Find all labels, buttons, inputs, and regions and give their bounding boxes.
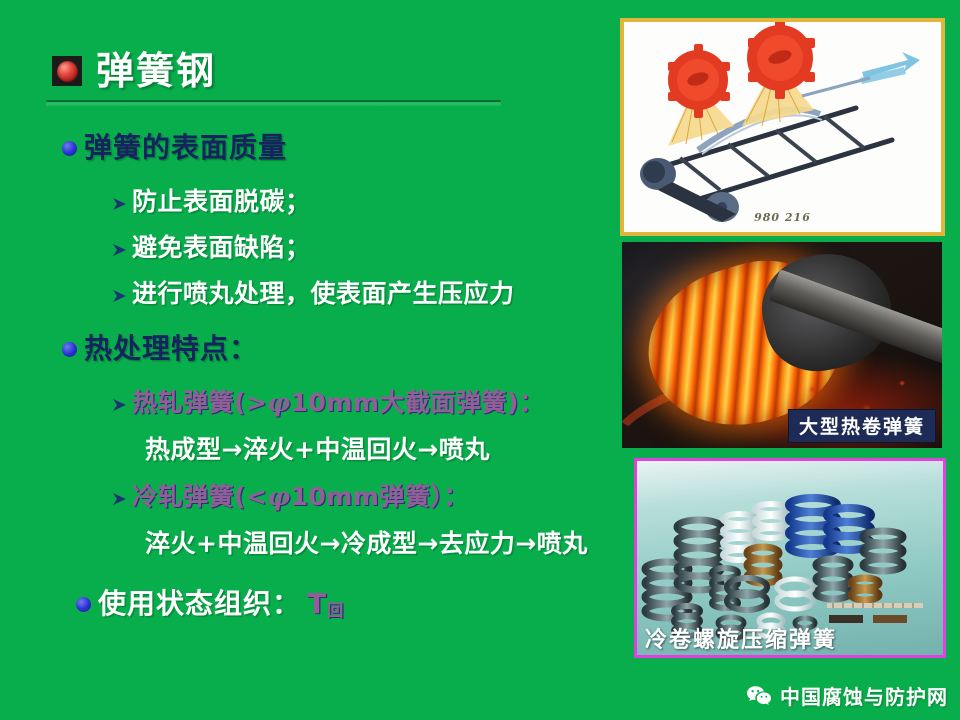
watermark-text: 中国腐蚀与防护网 bbox=[780, 681, 948, 710]
cold-rolled-label-b: (< bbox=[234, 482, 267, 511]
arrow-bullet-icon bbox=[112, 492, 128, 506]
hot-rolled-label: 热轧弹簧(>φ10mm大截面弹簧)： bbox=[132, 388, 544, 418]
diagram-caption: 980 216 bbox=[624, 211, 941, 224]
title-divider bbox=[46, 100, 501, 106]
section1-heading-text: 弹簧的表面质量 bbox=[84, 130, 287, 165]
section3-heading-text: 使用状态组织：T回 bbox=[98, 586, 344, 621]
phi-symbol: φ bbox=[267, 388, 290, 417]
shot-peening-drawing: 980 216 bbox=[624, 22, 941, 232]
list-item-cold-rolled: 冷轧弹簧(<φ10mm弹簧）： bbox=[112, 482, 620, 512]
hot-coiled-spring-photo: 大型热卷弹簧 bbox=[622, 242, 942, 448]
section2-heading: 热处理特点： bbox=[62, 331, 620, 366]
arrow-bullet-icon bbox=[112, 289, 128, 303]
bullet-dot-icon bbox=[76, 597, 91, 612]
list-item-text: 防止表面脱碳； bbox=[132, 187, 311, 217]
list-item-hot-rolled: 热轧弹簧(>φ10mm大截面弹簧)： bbox=[112, 388, 620, 418]
page-title: 弹簧钢 bbox=[96, 52, 216, 90]
hot-rolled-label-a: 热轧弹簧 bbox=[132, 388, 234, 417]
section1-heading: 弹簧的表面质量 bbox=[62, 130, 620, 165]
section2-heading-text: 热处理特点： bbox=[84, 331, 258, 366]
hot-rolled-label-b: (> bbox=[234, 388, 267, 417]
peening-svg bbox=[624, 22, 941, 232]
section3-heading: 使用状态组织：T回 bbox=[76, 586, 620, 621]
red-gem-icon bbox=[52, 56, 82, 86]
photo2-caption: 大型热卷弹簧 bbox=[788, 409, 936, 443]
cold-rolled-label: 冷轧弹簧(<φ10mm弹簧）： bbox=[132, 482, 469, 512]
list-item: 进行喷丸处理，使表面产生压应力 bbox=[112, 279, 620, 309]
cold-coiled-springs-photo: 冷卷螺旋压缩弹簧 bbox=[634, 458, 946, 658]
hot-rolled-label-d: ： bbox=[519, 388, 545, 417]
bullet-dot-icon bbox=[62, 141, 77, 156]
phi-symbol: φ bbox=[267, 482, 290, 511]
bullet-dot-icon bbox=[62, 342, 77, 357]
cold-rolled-flow-text: 淬火+中温回火→冷成型→去应力→喷丸 bbox=[145, 524, 620, 560]
arrow-bullet-icon bbox=[112, 243, 128, 257]
list-item: 防止表面脱碳； bbox=[112, 187, 620, 217]
hot-rolled-label-c: 10mm大截面弹簧) bbox=[291, 388, 519, 417]
cold-rolled-label-a: 冷轧弹簧 bbox=[132, 482, 234, 511]
watermark: 中国腐蚀与防护网 bbox=[746, 681, 948, 710]
slide-canvas: 弹簧钢 弹簧的表面质量 防止表面脱碳； 避免表面缺陷； 进行喷丸处理，使表面产生… bbox=[0, 0, 960, 720]
list-item: 避免表面缺陷； bbox=[112, 233, 620, 263]
arrow-bullet-icon bbox=[112, 197, 128, 211]
symbol-T: T回 bbox=[307, 587, 344, 620]
cold-rolled-label-d: ： bbox=[443, 482, 469, 511]
hot-rolled-flow-text: 热成型→淬火+中温回火→喷丸 bbox=[145, 430, 620, 466]
cold-rolled-label-c: 10mm弹簧） bbox=[291, 482, 444, 511]
section3-label: 使用状态组织： bbox=[98, 587, 301, 620]
slide-body: 弹簧的表面质量 防止表面脱碳； 避免表面缺陷； 进行喷丸处理，使表面产生压应力 … bbox=[0, 130, 620, 621]
shot-peening-diagram: 980 216 bbox=[620, 18, 945, 236]
wechat-icon bbox=[746, 685, 772, 707]
symbol-T-subscript: 回 bbox=[327, 601, 344, 620]
arrow-bullet-icon bbox=[112, 398, 128, 412]
photo3-caption: 冷卷螺旋压缩弹簧 bbox=[645, 622, 837, 654]
slide-title-row: 弹簧钢 bbox=[52, 52, 216, 90]
list-item-text: 进行喷丸处理，使表面产生压应力 bbox=[132, 279, 515, 309]
list-item-text: 避免表面缺陷； bbox=[132, 233, 311, 263]
symbol-T-base: T bbox=[307, 587, 327, 620]
